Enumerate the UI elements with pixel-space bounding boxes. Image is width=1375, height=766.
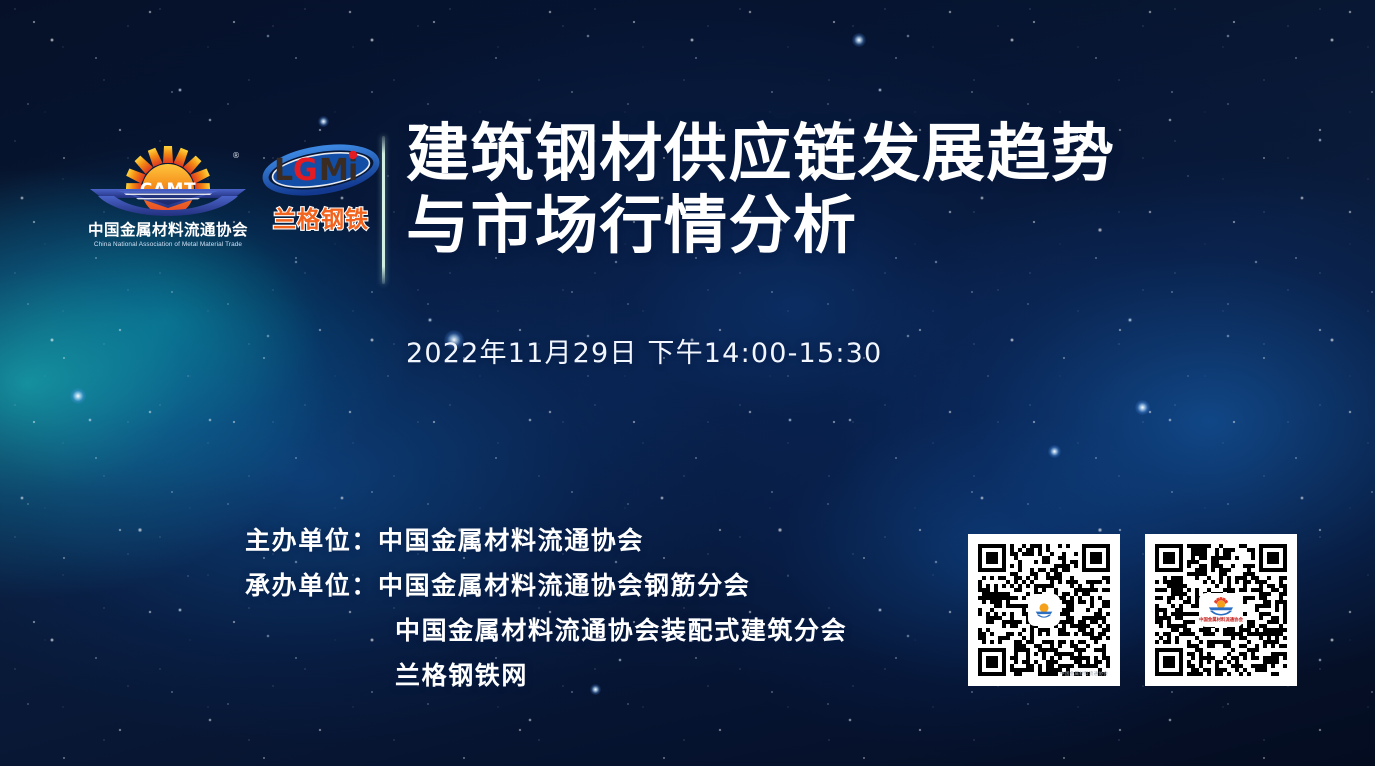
svg-text:L: L (274, 153, 293, 188)
glow-star (1135, 400, 1150, 415)
camt-sun-wave-mini-logo (1030, 596, 1058, 624)
camt-mini-logo-svg (1034, 600, 1054, 620)
lgmi-name-cn: 兰格钢铁 (262, 200, 380, 234)
title-line-1: 建筑钢材供应链发展趋势 (406, 118, 1266, 190)
camt-emblem-logo: 中国金属材料流通协会 (1201, 595, 1241, 625)
title-line-2: 与市场行情分析 (406, 190, 1266, 262)
camt-logo-svg: CAMT ® (84, 138, 252, 216)
glow-star (70, 388, 86, 404)
event-datetime: 2022年11月29日 下午14:00-15:30 (406, 331, 882, 370)
title-divider (382, 136, 385, 284)
organizer-row-coorganizer-3: 兰格钢铁网 (245, 653, 847, 698)
qr-code-right[interactable]: 中国金属材料流通协会 (1145, 534, 1297, 686)
lgmi-ellipse-logo: L G M i (262, 142, 380, 198)
camt-logo-text: 中国金属材料流通协会 China National Association of… (84, 218, 252, 248)
glow-star (1048, 445, 1061, 458)
svg-text:M: M (319, 153, 349, 188)
poster-header: CAMT ® (0, 118, 1375, 298)
qr-code-left[interactable]: 中国金属材料流通协会 (968, 534, 1120, 686)
poster-title: 建筑钢材供应链发展趋势 与市场行情分析 (406, 118, 1266, 262)
event-poster: CAMT ® (0, 0, 1375, 766)
svg-text:G: G (293, 153, 318, 188)
qr-left-watermark: 中国金属材料流通协会 (1060, 671, 1108, 677)
logo-group: CAMT ® (84, 138, 374, 268)
organizer-list: 主办单位：中国金属材料流通协会 承办单位：中国金属材料流通协会钢筋分会 中国金属… (245, 518, 847, 698)
camt-sun-wave-logo: CAMT ® (84, 138, 252, 216)
camt-name-cn: 中国金属材料流通协会 (84, 218, 252, 240)
organizer-row-coorganizer-2: 中国金属材料流通协会装配式建筑分会 (245, 608, 847, 653)
organizer-row-host: 主办单位：中国金属材料流通协会 (245, 518, 847, 563)
glow-star (852, 33, 866, 47)
organizer-row-coorganizer: 承办单位：中国金属材料流通协会钢筋分会 (245, 563, 847, 608)
qr-code-group: 中国金属材料流通协会 (968, 534, 1297, 686)
camt-logo: CAMT ® (84, 138, 252, 248)
qr-right-logo-caption: 中国金属材料流通协会 (1199, 617, 1243, 623)
svg-text:®: ® (232, 151, 240, 160)
lgmi-logo: L G M i 兰格钢铁 (262, 142, 380, 234)
lgmi-logo-svg: L G M i (262, 142, 380, 198)
camt-emblem-svg (1207, 597, 1235, 616)
camt-name-en: China National Association of Metal Mate… (84, 241, 252, 248)
